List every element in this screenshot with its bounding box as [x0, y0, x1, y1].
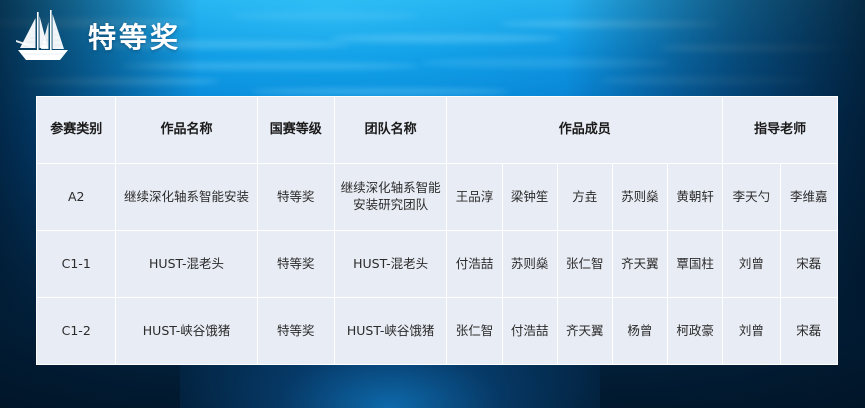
- cell-member: 柯政豪: [668, 298, 723, 365]
- col-header-team-name: 团队名称: [334, 97, 447, 164]
- cell-member: 黄朝轩: [668, 164, 723, 231]
- table-header-row: 参赛类别 作品名称 国赛等级 团队名称 作品成员 指导老师: [37, 97, 838, 164]
- cell-advisor: 刘曾: [723, 231, 780, 298]
- col-header-advisors: 指导老师: [723, 97, 838, 164]
- banner: 特等奖: [0, 0, 865, 72]
- col-header-members: 作品成员: [447, 97, 723, 164]
- cell-member: 齐天翼: [612, 231, 667, 298]
- cell-member: 苏则燊: [612, 164, 667, 231]
- col-header-category: 参赛类别: [37, 97, 116, 164]
- cell-advisor: 宋磊: [780, 231, 837, 298]
- table-header: 参赛类别 作品名称 国赛等级 团队名称 作品成员 指导老师: [37, 97, 838, 164]
- cell-advisor: 李维嘉: [780, 164, 837, 231]
- cell-member: 付浩喆: [502, 298, 557, 365]
- sailing-ship-icon: [12, 8, 74, 64]
- table-row: C1-2 HUST-峡谷饿猪 特等奖 HUST-峡谷饿猪 张仁智 付浩喆 齐天翼…: [37, 298, 838, 365]
- cell-category: C1-1: [37, 231, 116, 298]
- awards-table: 参赛类别 作品名称 国赛等级 团队名称 作品成员 指导老师 A2 继续深化轴系智…: [36, 96, 838, 365]
- cell-category: C1-2: [37, 298, 116, 365]
- cell-member: 方垚: [557, 164, 612, 231]
- cell-member: 苏则燊: [502, 231, 557, 298]
- awards-table-container: 参赛类别 作品名称 国赛等级 团队名称 作品成员 指导老师 A2 继续深化轴系智…: [36, 96, 838, 345]
- cell-member: 杨曾: [612, 298, 667, 365]
- cell-member: 付浩喆: [447, 231, 502, 298]
- cell-team-name: HUST-峡谷饿猪: [334, 298, 447, 365]
- cell-member: 齐天翼: [557, 298, 612, 365]
- cell-work-name: 继续深化轴系智能安装: [116, 164, 257, 231]
- cell-work-name: HUST-峡谷饿猪: [116, 298, 257, 365]
- page-title: 特等奖: [88, 16, 181, 56]
- cell-work-name: HUST-混老头: [116, 231, 257, 298]
- cell-national-level: 特等奖: [257, 231, 334, 298]
- cell-team-name: HUST-混老头: [334, 231, 447, 298]
- slide-root: 特等奖 参赛类别 作品名称 国赛等级 团队名称 作品成员 指导老师: [0, 0, 865, 408]
- cell-team-name: 继续深化轴系智能安装研究团队: [334, 164, 447, 231]
- cell-category: A2: [37, 164, 116, 231]
- cell-national-level: 特等奖: [257, 298, 334, 365]
- cell-advisor: 刘曾: [723, 298, 780, 365]
- table-row: C1-1 HUST-混老头 特等奖 HUST-混老头 付浩喆 苏则燊 张仁智 齐…: [37, 231, 838, 298]
- cell-national-level: 特等奖: [257, 164, 334, 231]
- cell-member: 张仁智: [447, 298, 502, 365]
- water-streak: [250, 88, 510, 95]
- cell-member: 覃国柱: [668, 231, 723, 298]
- col-header-work-name: 作品名称: [116, 97, 257, 164]
- cell-advisor: 李天勺: [723, 164, 780, 231]
- cell-member: 王品淳: [447, 164, 502, 231]
- table-body: A2 继续深化轴系智能安装 特等奖 继续深化轴系智能安装研究团队 王品淳 梁钟笙…: [37, 164, 838, 365]
- cell-advisor: 宋磊: [780, 298, 837, 365]
- cell-member: 梁钟笙: [502, 164, 557, 231]
- col-header-national-level: 国赛等级: [257, 97, 334, 164]
- table-row: A2 继续深化轴系智能安装 特等奖 继续深化轴系智能安装研究团队 王品淳 梁钟笙…: [37, 164, 838, 231]
- cell-member: 张仁智: [557, 231, 612, 298]
